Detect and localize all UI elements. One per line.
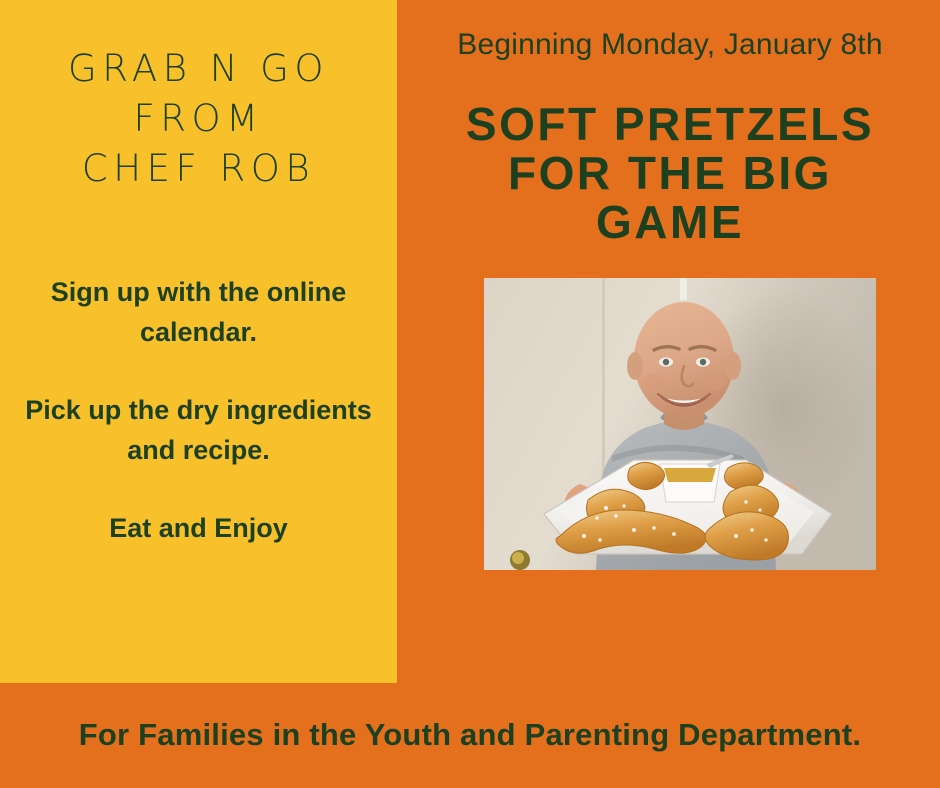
instruction-step-3: Eat and Enjoy (10, 508, 387, 548)
main-title: SOFT PRETZELS FOR THE BIG GAME (400, 100, 940, 247)
main-title-line-1: SOFT PRETZELS (400, 100, 940, 149)
main-title-line-2: FOR THE BIG (400, 149, 940, 198)
brand-heading-line-1: GRAB N GO (0, 44, 397, 94)
event-date-line: Beginning Monday, January 8th (400, 27, 940, 63)
brand-heading-line-2: FROM (0, 94, 397, 144)
main-title-line-3: GAME (400, 198, 940, 247)
brand-heading-line-3: CHEF ROB (0, 144, 397, 194)
footer-banner: For Families in the Youth and Parenting … (0, 700, 940, 770)
chef-photo (484, 278, 876, 570)
chef-photo-illustration (484, 278, 876, 570)
instruction-steps: Sign up with the online calendar. Pick u… (10, 272, 387, 548)
left-yellow-panel: GRAB N GO FROM CHEF ROB Sign up with the… (0, 0, 397, 683)
brand-heading: GRAB N GO FROM CHEF ROB (0, 44, 397, 194)
footer-text: For Families in the Youth and Parenting … (79, 717, 861, 753)
instruction-step-1: Sign up with the online calendar. (10, 272, 387, 352)
instruction-step-2: Pick up the dry ingredients and recipe. (10, 390, 387, 470)
flyer-poster: GRAB N GO FROM CHEF ROB Sign up with the… (0, 0, 940, 788)
